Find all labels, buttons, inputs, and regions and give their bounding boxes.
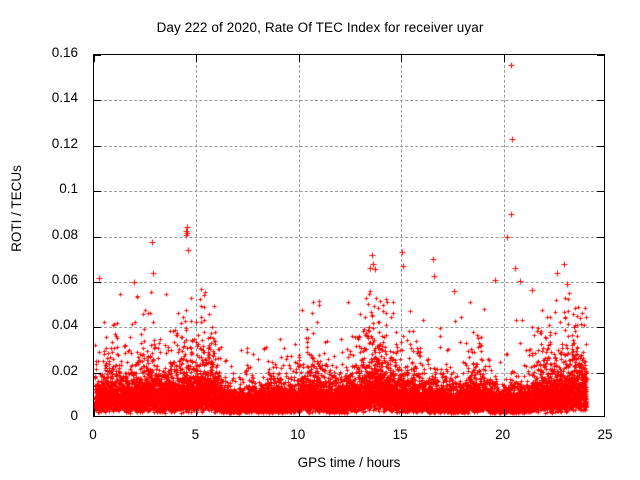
y-axis-tick-right <box>597 191 604 192</box>
y-tick-label: 0.08 <box>0 227 78 242</box>
y-axis-tick <box>94 327 101 328</box>
y-tick-label: 0.16 <box>0 45 78 60</box>
x-tick-label: 20 <box>473 427 533 442</box>
y-axis-tick-right <box>597 55 604 56</box>
x-axis-tick-top <box>299 55 300 62</box>
x-axis-tick <box>504 409 505 416</box>
y-tick-label: 0.1 <box>0 181 78 196</box>
y-axis-tick-right <box>597 373 604 374</box>
y-tick-label: 0 <box>0 408 78 423</box>
y-tick-label: 0.04 <box>0 317 78 332</box>
x-axis-tick-top <box>94 55 95 62</box>
y-axis-tick <box>94 191 101 192</box>
y-tick-label: 0.14 <box>0 90 78 105</box>
x-axis-tick <box>196 409 197 416</box>
plot-area <box>93 54 605 417</box>
x-axis-tick <box>299 409 300 416</box>
y-axis-tick-right <box>597 327 604 328</box>
chart-container: Day 222 of 2020, Rate Of TEC Index for r… <box>0 0 640 480</box>
x-axis-tick <box>94 409 95 416</box>
y-axis-title: ROTI / TECUs <box>4 0 28 417</box>
y-axis-tick-right <box>597 282 604 283</box>
x-tick-label: 25 <box>575 427 635 442</box>
x-axis-tick-top <box>196 55 197 62</box>
x-axis-tick-top <box>504 55 505 62</box>
y-axis-tick <box>94 373 101 374</box>
y-tick-label: 0.06 <box>0 272 78 287</box>
y-axis-tick-right <box>597 146 604 147</box>
x-tick-label: 5 <box>165 427 225 442</box>
scatter-points-layer <box>94 55 605 417</box>
y-axis-tick <box>94 55 101 56</box>
x-tick-label: 10 <box>268 427 328 442</box>
y-axis-tick-right <box>597 237 604 238</box>
y-axis-tick-right <box>597 100 604 101</box>
chart-title: Day 222 of 2020, Rate Of TEC Index for r… <box>0 20 640 35</box>
x-axis-tick-top <box>401 55 402 62</box>
x-tick-label: 0 <box>63 427 123 442</box>
y-tick-label: 0.02 <box>0 363 78 378</box>
y-tick-label: 0.12 <box>0 136 78 151</box>
x-tick-label: 15 <box>370 427 430 442</box>
x-axis-title: GPS time / hours <box>93 455 605 470</box>
y-axis-tick <box>94 282 101 283</box>
x-axis-tick <box>401 409 402 416</box>
y-axis-tick <box>94 146 101 147</box>
y-axis-tick <box>94 237 101 238</box>
y-axis-tick <box>94 100 101 101</box>
